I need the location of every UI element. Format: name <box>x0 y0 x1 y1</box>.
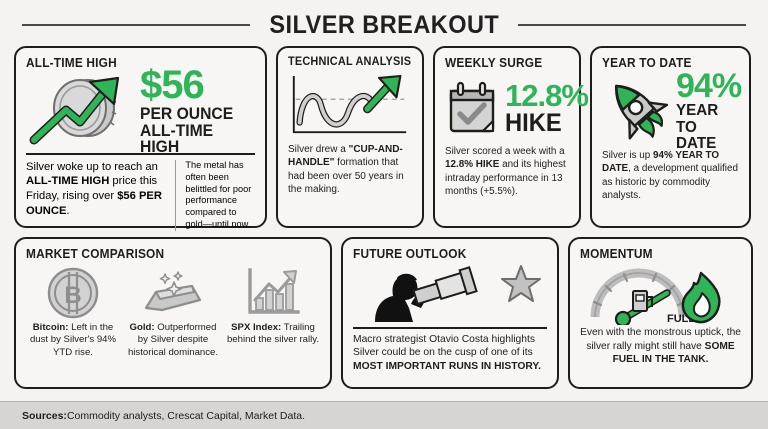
card-title-market-comparison: MARKET COMPARISON <box>26 247 305 261</box>
all-time-high-text-primary: Silver woke up to reach an ALL-TIME HIGH… <box>26 160 166 232</box>
year-to-date-text: Silver is up 94% YEAR TO DATE, a develop… <box>602 149 739 202</box>
rocket-icon <box>602 76 672 147</box>
card-title-all-time-high: ALL-TIME HIGH <box>26 56 244 70</box>
weekly-surge-text: Silver scored a week with a 12.8% HIKE a… <box>445 145 569 198</box>
card-technical-analysis: TECHNICAL ANALYSIS Silver drew a "CUP-AN… <box>276 46 424 228</box>
ta-text-1: Silver drew a <box>288 144 349 155</box>
market-comparison-caption-spx: SPX Index: Trailing behind the silver ra… <box>226 322 320 347</box>
year-to-date-sub-2: TO DATE <box>676 120 738 153</box>
mc-label-spx: SPX Index: <box>231 322 281 333</box>
ath-text-a1: Silver woke up to reach an <box>26 161 158 173</box>
card-market-comparison: MARKET COMPARISON B Bitcoin: Left in t <box>14 237 332 389</box>
card-title-year-to-date: YEAR TO DATE <box>602 56 732 70</box>
future-outlook-divider <box>353 327 547 329</box>
bar-chart-arrow-icon <box>244 264 302 322</box>
star-icon <box>501 264 541 309</box>
infographic-page: SILVER BREAKOUT ALL-TIME HIGH <box>0 0 768 429</box>
all-time-high-column-divider <box>175 160 176 232</box>
market-comparison-items: B Bitcoin: Left in the dust by Silver's … <box>26 264 320 359</box>
ws-text-1: Silver scored a week with a <box>445 146 565 157</box>
market-comparison-caption-bitcoin: Bitcoin: Left in the dust by Silver's 94… <box>26 322 120 359</box>
all-time-high-sub-1: PER OUNCE <box>140 106 249 123</box>
sources-footer: Sources: Commodity analysts, Crescat Cap… <box>0 401 768 429</box>
cup-and-handle-chart-icon <box>288 71 412 143</box>
card-year-to-date: YEAR TO DATE <box>590 46 751 228</box>
market-comparison-caption-gold: Gold: Outperformed by Silver despite his… <box>126 322 220 359</box>
mc-label-gold: Gold: <box>130 322 155 333</box>
weekly-surge-value: 12.8% <box>505 81 588 110</box>
page-title-bar: SILVER BREAKOUT <box>0 0 768 46</box>
gold-bar-icon <box>140 264 206 322</box>
bottom-row: MARKET COMPARISON B Bitcoin: Left in t <box>0 237 768 389</box>
title-rule-right <box>518 24 746 26</box>
fo-text-2: MOST IMPORTANT RUNS IN HISTORY. <box>353 361 541 372</box>
sources-text: Commodity analysts, Crescat Capital, Mar… <box>67 410 305 422</box>
card-all-time-high: ALL-TIME HIGH <box>14 46 267 228</box>
card-title-technical-analysis: TECHNICAL ANALYSIS <box>288 56 406 68</box>
momentum-text: Even with the monstrous uptick, the silv… <box>580 326 741 367</box>
ath-text-a2: ALL-TIME HIGH <box>26 175 109 187</box>
fo-text-1: Macro strategist Otavio Costa highlights… <box>353 334 535 359</box>
silver-coin-rising-arrow-icon <box>28 72 132 151</box>
year-to-date-sub-1: YEAR <box>676 103 738 119</box>
year-to-date-value: 94% <box>676 70 741 102</box>
year-to-date-hero: 94% YEAR TO DATE <box>602 73 739 149</box>
top-row: ALL-TIME HIGH <box>0 46 768 228</box>
bitcoin-coin-icon: B <box>46 264 100 322</box>
all-time-high-value: $56 <box>140 66 255 104</box>
all-time-high-text-secondary: The metal has often been belittled for p… <box>185 160 255 232</box>
all-time-high-hero: $56 PER OUNCE ALL-TIME HIGH <box>28 73 255 149</box>
mc-label-bitcoin: Bitcoin: <box>33 322 69 333</box>
market-comparison-item-spx: SPX Index: Trailing behind the silver ra… <box>226 264 320 359</box>
card-title-momentum: MOMENTUM <box>580 247 733 261</box>
title-rule-left <box>22 24 250 26</box>
technical-analysis-text: Silver drew a "CUP-AND-HANDLE" formation… <box>288 143 412 197</box>
weekly-surge-hero: 12.8% HIKE <box>445 73 569 145</box>
fuel-gauge-flame-icon: FULL <box>580 264 741 326</box>
future-outlook-art <box>353 264 547 326</box>
card-future-outlook: FUTURE OUTLOOK <box>341 237 559 389</box>
future-outlook-text: Macro strategist Otavio Costa highlights… <box>353 333 547 374</box>
weekly-surge-sub: HIKE <box>505 111 584 137</box>
flame-glyph <box>682 273 718 322</box>
market-comparison-item-gold: Gold: Outperformed by Silver despite his… <box>126 264 220 359</box>
card-weekly-surge: WEEKLY SURGE 12.8% HIKE <box>433 46 581 228</box>
page-title: SILVER BREAKOUT <box>269 11 499 40</box>
sources-label: Sources: <box>22 410 67 422</box>
calendar-check-icon <box>445 81 499 137</box>
ytd-text-1: Silver is up <box>602 150 653 161</box>
card-title-weekly-surge: WEEKLY SURGE <box>445 56 563 70</box>
market-comparison-item-bitcoin: B Bitcoin: Left in the dust by Silver's … <box>26 264 120 359</box>
card-title-future-outlook: FUTURE OUTLOOK <box>353 247 537 261</box>
ath-text-a5: . <box>66 205 69 217</box>
ws-text-2: 12.8% HIKE <box>445 159 499 170</box>
card-momentum: MOMENTUM FULL <box>568 237 753 389</box>
all-time-high-text-columns: Silver woke up to reach an ALL-TIME HIGH… <box>26 160 255 232</box>
all-time-high-sub-2: ALL-TIME HIGH <box>140 123 249 157</box>
